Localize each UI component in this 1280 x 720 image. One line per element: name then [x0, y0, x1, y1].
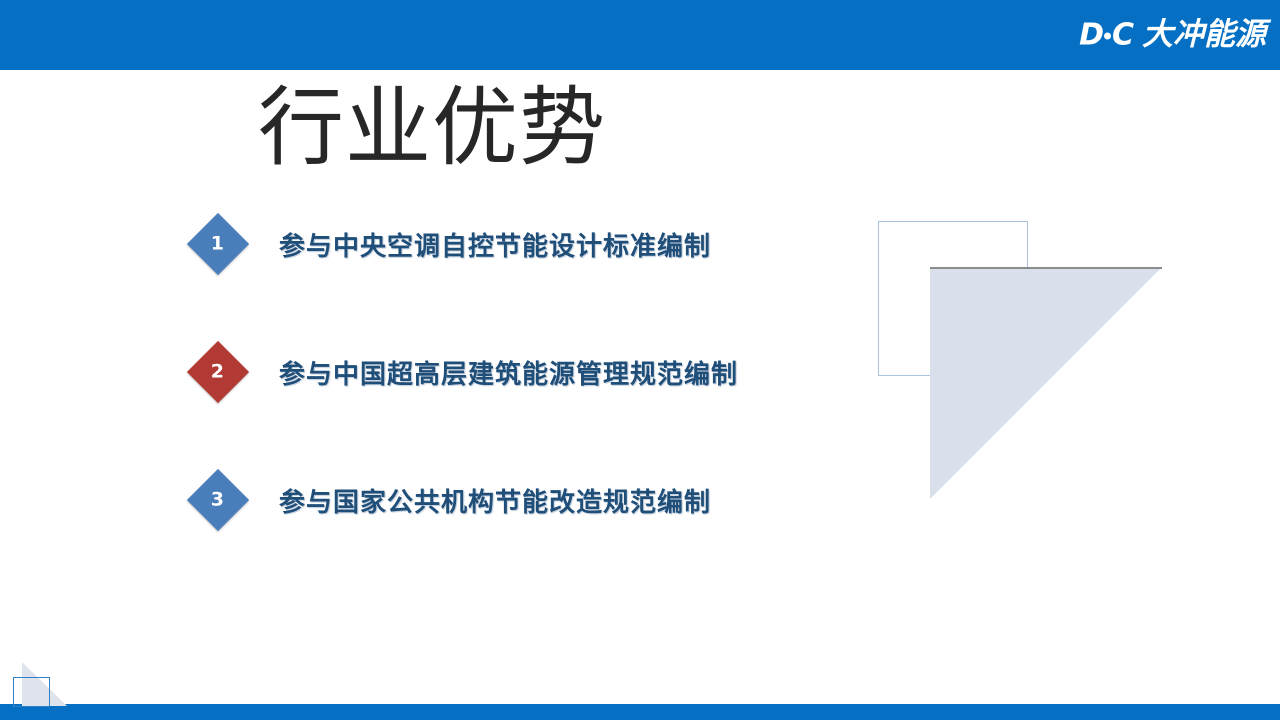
bullet-diamond-3: 3 — [187, 469, 249, 531]
triangle-shape — [930, 267, 1162, 499]
logo-letter-d: D — [1079, 20, 1103, 50]
bullet-number: 3 — [211, 490, 224, 509]
list-item[interactable]: 1 参与中央空调自控节能设计标准编制 — [196, 212, 896, 276]
presentation-slide: D C 大冲能源 行业优势 1 参与中央空调自控节能设计标准编制 2 参与中国 — [0, 0, 1280, 720]
bullet-diamond-1: 1 — [187, 213, 249, 275]
logo-letter-c: C — [1112, 20, 1133, 50]
bullet-diamond-2: 2 — [187, 341, 249, 403]
list-item[interactable]: 3 参与国家公共机构节能改造规范编制 — [196, 468, 896, 532]
bullet-text: 参与中央空调自控节能设计标准编制 — [279, 226, 711, 263]
list-item[interactable]: 2 参与中国超高层建筑能源管理规范编制 — [196, 340, 896, 404]
bullet-text: 参与国家公共机构节能改造规范编制 — [279, 482, 711, 519]
footer-bar — [0, 704, 1280, 720]
logo-dot-icon — [1104, 33, 1111, 40]
small-square-outline-shape — [13, 677, 50, 707]
header-bar: D C 大冲能源 — [0, 0, 1280, 70]
bullet-text: 参与中国超高层建筑能源管理规范编制 — [279, 354, 738, 391]
bullet-list: 1 参与中央空调自控节能设计标准编制 2 参与中国超高层建筑能源管理规范编制 3… — [196, 212, 896, 596]
company-logo: D C 大冲能源 — [1079, 20, 1266, 51]
page-title: 行业优势 — [258, 83, 606, 173]
logo-wordmark: 大冲能源 — [1142, 20, 1266, 51]
dc-logo-icon: D C — [1079, 20, 1133, 50]
bullet-number: 2 — [211, 362, 224, 381]
bullet-number: 1 — [211, 234, 224, 253]
